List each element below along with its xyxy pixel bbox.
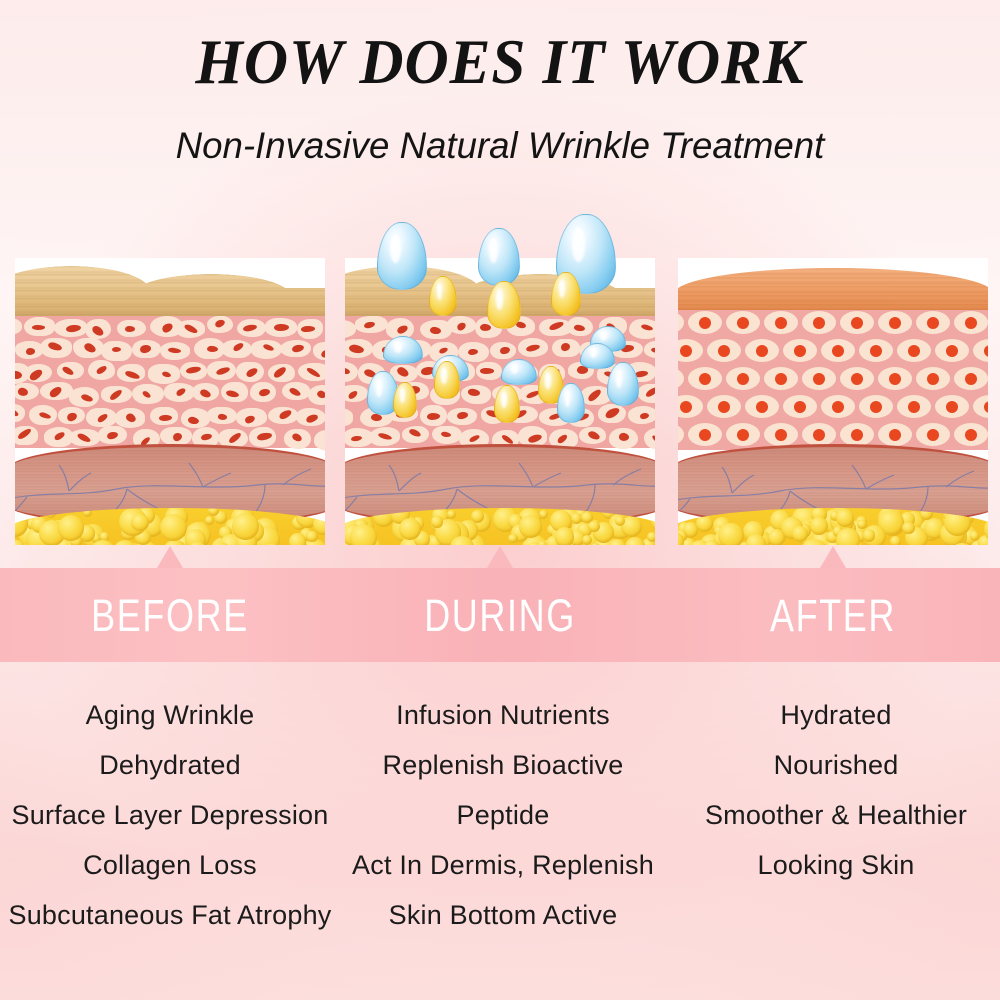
dermis-cells-after — [678, 310, 988, 450]
page-subtitle: Non-Invasive Natural Wrinkle Treatment — [5, 125, 995, 167]
skin-cross-section-before — [15, 258, 325, 545]
notch-before — [157, 546, 183, 568]
dermis-cells-before — [15, 316, 325, 448]
stage-label-band: BEFORE DURING AFTER — [0, 568, 1000, 662]
stage-label-during: DURING — [364, 568, 636, 662]
list-item: Smoother & Healthier — [666, 790, 1000, 840]
list-item: Hydrated — [666, 690, 1000, 740]
stage-label-before: BEFORE — [34, 568, 306, 662]
subcutaneous-fat-layer-after — [678, 508, 988, 545]
list-item: Collagen Loss — [0, 840, 340, 890]
list-item: Subcutaneous Fat Atrophy — [0, 890, 340, 940]
epidermis-layer-wavy-icon — [15, 266, 325, 322]
list-item: Peptide — [333, 790, 673, 840]
dermis-cells-during — [345, 316, 655, 448]
subcutaneous-fat-layer-before — [15, 508, 325, 545]
benefit-list-during: Infusion Nutrients Replenish Bioactive P… — [333, 690, 673, 940]
epidermis-layer-wavy-icon — [345, 266, 655, 322]
dermis-layer-during — [345, 316, 655, 448]
dermis-layer-before — [15, 316, 325, 448]
notch-during — [487, 546, 513, 568]
skin-cross-section-during — [345, 258, 655, 545]
list-item: Aging Wrinkle — [0, 690, 340, 740]
epidermis-layer-smooth-icon — [678, 268, 988, 314]
infographic-root: HOW DOES IT WORK Non-Invasive Natural Wr… — [0, 0, 1000, 1000]
benefit-list-before: Aging Wrinkle Dehydrated Surface Layer D… — [0, 690, 340, 940]
list-item: Nourished — [666, 740, 1000, 790]
stage-label-after: AFTER — [697, 568, 969, 662]
dermis-layer-after — [678, 310, 988, 450]
benefit-list-after: Hydrated Nourished Smoother & Healthier … — [666, 690, 1000, 890]
droplet-highlight — [572, 227, 585, 261]
notch-after — [820, 546, 846, 568]
skin-cross-section-after — [678, 258, 988, 545]
diagram-panels — [0, 258, 1000, 548]
list-item: Act In Dermis, Replenish — [333, 840, 673, 890]
list-item: Looking Skin — [666, 840, 1000, 890]
page-title: HOW DOES IT WORK — [15, 26, 985, 99]
list-item: Infusion Nutrients — [333, 690, 673, 740]
list-item: Skin Bottom Active — [333, 890, 673, 940]
list-item: Replenish Bioactive — [333, 740, 673, 790]
list-item: Dehydrated — [0, 740, 340, 790]
subcutaneous-fat-layer-during — [345, 508, 655, 545]
list-item: Surface Layer Depression — [0, 790, 340, 840]
